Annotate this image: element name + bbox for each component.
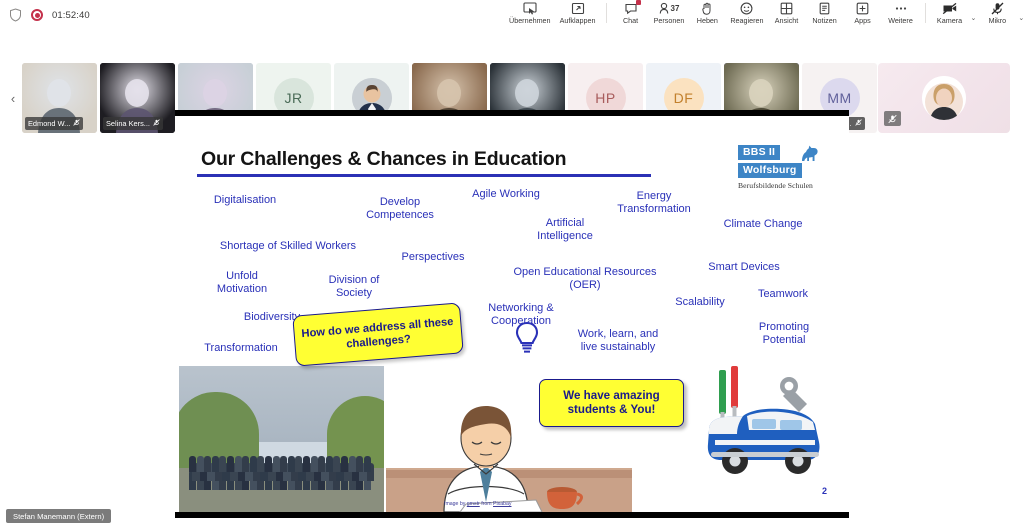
shield-icon	[9, 8, 22, 22]
record-icon	[31, 9, 43, 21]
crowd-figure	[197, 456, 204, 472]
attribution-prefix: Image by	[444, 501, 467, 507]
cloud-word: Shortage of Skilled Workers	[197, 240, 379, 253]
crowd-figure	[303, 456, 310, 472]
raise-hand-icon	[701, 1, 713, 15]
attribution-author-link[interactable]: gmstr	[467, 501, 480, 507]
crowd-figure	[288, 456, 295, 472]
recording-status: 01:52:40	[0, 8, 90, 22]
crowd-figure	[356, 456, 363, 472]
toolbar-camera-button[interactable]: Kamera	[931, 0, 969, 25]
toolbar-camera-label: Kamera	[937, 16, 962, 25]
mic-muted-icon	[855, 118, 862, 129]
cloud-word: Agile Working	[458, 188, 554, 201]
toolbar-more-button[interactable]: Weitere	[882, 0, 920, 25]
cloud-word: Unfold Motivation	[199, 270, 285, 295]
popout-window-icon	[571, 1, 585, 15]
toolbar-people-label: Personen	[654, 16, 685, 25]
toolbar-mic-button[interactable]: Mikro	[978, 0, 1016, 25]
callout-statement-text: We have amazing students & You!	[540, 389, 683, 418]
cloud-word: Promoting Potential	[745, 321, 823, 346]
apps-plus-icon	[856, 1, 869, 15]
grid-view-icon	[780, 1, 793, 15]
smiley-icon	[740, 1, 753, 15]
teams-meeting-window: 01:52:40 Übernehmen Aufklappen	[0, 0, 1024, 528]
crowd-figure	[341, 456, 348, 472]
presentation-slide: Our Challenges & Chances in Education BB…	[175, 116, 849, 512]
toolbar-raise-hand-label: Heben	[697, 16, 718, 25]
crowd-figure	[326, 456, 333, 472]
toolbar-actions: Übernehmen Aufklappen Chat 37	[505, 0, 1024, 30]
crowd-figure	[227, 456, 234, 472]
vw-van-illustration	[695, 364, 829, 494]
participant-name-label: Selina Kers...	[103, 117, 163, 130]
attribution-source-link[interactable]: Pixabay	[493, 501, 511, 507]
crowd-figure	[333, 456, 340, 472]
crowd-figure	[257, 456, 264, 472]
crowd-figure	[235, 456, 242, 472]
cloud-word: Digitalisation	[199, 194, 291, 207]
crowd-figure	[295, 456, 302, 472]
participant-name-label: Edmond W...	[25, 117, 83, 130]
toolbar-notes-button[interactable]: Notizen	[806, 0, 844, 25]
mic-chevron-down-icon[interactable]: ⌄	[1016, 14, 1024, 22]
cloud-word: Perspectives	[390, 251, 476, 264]
crowd-figure	[250, 456, 257, 472]
callout-question-text: How do we address all these challenges?	[294, 314, 462, 355]
crowd-figure	[265, 456, 272, 472]
people-count: 37	[671, 4, 680, 13]
participant-filmstrip: ‹ › Edmond W...Selina Kers...Klaus Hengs…	[0, 30, 1024, 110]
present-cursor-icon	[523, 1, 537, 15]
toolbar-people-button[interactable]: 37 Personen	[650, 0, 689, 25]
people-icon: 37	[659, 1, 680, 15]
crowd-figure	[204, 456, 211, 472]
toolbar-react-label: Reagieren	[730, 16, 763, 25]
school-group-photo	[179, 366, 384, 512]
meeting-toolbar: 01:52:40 Übernehmen Aufklappen	[0, 0, 1024, 30]
participant-tile[interactable]: Edmond W...	[22, 63, 97, 133]
image-attribution: Image by gmstr from Pixabay	[444, 501, 511, 507]
camera-off-icon	[942, 1, 958, 15]
attribution-suffix: from	[480, 501, 493, 507]
crowd-figure	[349, 456, 356, 472]
self-view-tile[interactable]	[878, 63, 1010, 133]
toolbar-takeover-label: Übernehmen	[509, 16, 551, 25]
toolbar-takeover-button[interactable]: Übernehmen	[505, 0, 555, 25]
mic-off-icon	[991, 1, 1004, 15]
lightbulb-icon	[514, 321, 540, 355]
cloud-word: Division of Society	[312, 274, 396, 299]
cloud-word: Open Educational Resources (OER)	[490, 266, 680, 291]
cloud-word: Work, learn, and live sustainably	[563, 328, 673, 353]
toolbar-apps-button[interactable]: Apps	[844, 0, 882, 25]
self-avatar	[922, 76, 966, 120]
toolbar-mic-label: Mikro	[989, 16, 1007, 25]
toolbar-divider-1	[606, 3, 607, 23]
toolbar-notes-label: Notizen	[812, 16, 836, 25]
toolbar-apps-label: Apps	[854, 16, 870, 25]
toolbar-react-button[interactable]: Reagieren	[726, 0, 767, 25]
crowd-figure	[189, 456, 196, 472]
cloud-word: Climate Change	[711, 218, 815, 231]
toolbar-view-label: Ansicht	[775, 16, 799, 25]
recording-timer: 01:52:40	[52, 10, 90, 21]
cloud-word: Energy Transformation	[599, 190, 709, 215]
camera-chevron-down-icon[interactable]: ⌄	[969, 14, 979, 22]
chat-unread-badge	[636, 0, 641, 5]
callout-statement: We have amazing students & You!	[539, 379, 684, 427]
mic-muted-icon	[153, 118, 160, 129]
toolbar-popout-label: Aufklappen	[560, 16, 596, 25]
presenter-name-banner: Stefan Manemann (Extern)	[6, 509, 111, 523]
crowd-figure	[242, 456, 249, 472]
crowd-figure	[280, 456, 287, 472]
cloud-word: Scalability	[663, 296, 737, 309]
toolbar-view-button[interactable]: Ansicht	[768, 0, 806, 25]
crowd-figure	[318, 456, 325, 472]
presenter-name-label: Stefan Manemann (Extern)	[13, 512, 104, 521]
crowd-figure	[212, 456, 219, 472]
crowd-figure	[364, 456, 371, 472]
mic-muted-icon	[73, 118, 80, 129]
toolbar-chat-button[interactable]: Chat	[612, 0, 650, 25]
toolbar-popout-button[interactable]: Aufklappen	[555, 0, 601, 25]
shared-content-stage[interactable]: Our Challenges & Chances in Education BB…	[175, 110, 849, 518]
cloud-word: Develop Competences	[350, 196, 450, 221]
crowd-figure	[273, 456, 280, 472]
toolbar-raise-hand-button[interactable]: Heben	[688, 0, 726, 25]
ellipsis-icon	[894, 1, 908, 15]
self-mic-muted-icon	[884, 111, 901, 126]
crowd-figure	[219, 456, 226, 472]
toolbar-chat-label: Chat	[623, 16, 638, 25]
notes-icon	[819, 1, 830, 15]
cloud-word: Artificial Intelligence	[522, 217, 608, 242]
toolbar-divider-2	[925, 3, 926, 23]
cloud-word: Smart Devices	[695, 261, 793, 274]
cloud-word: Teamwork	[745, 288, 821, 301]
cloud-word: Transformation	[188, 342, 294, 355]
chevron-left-icon[interactable]: ‹	[4, 60, 22, 136]
slide-number: 2	[822, 486, 827, 496]
toolbar-more-label: Weitere	[888, 16, 913, 25]
crowd-figure	[311, 456, 318, 472]
participant-tile[interactable]: Selina Kers...	[100, 63, 175, 133]
